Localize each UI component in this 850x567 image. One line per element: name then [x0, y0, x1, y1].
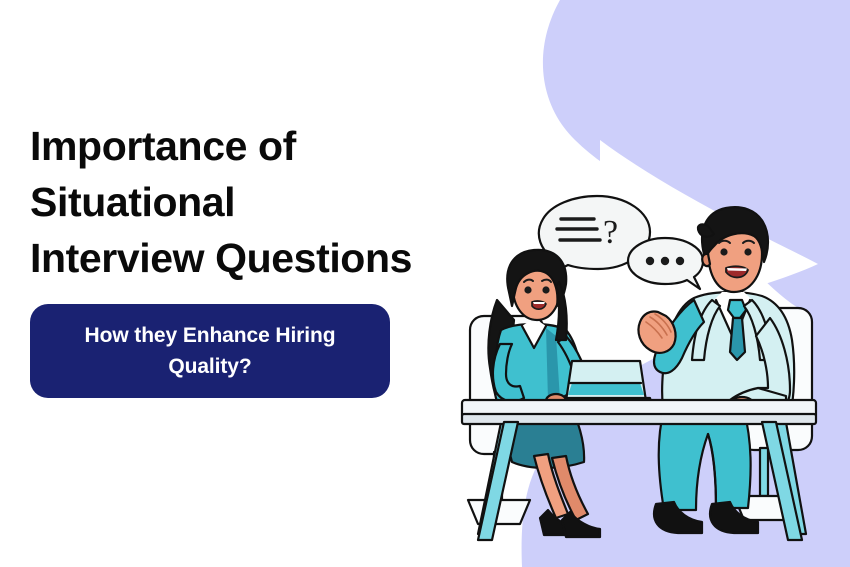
text-block: Importance of Situational Interview Ques… — [30, 118, 460, 398]
page-title: Importance of Situational Interview Ques… — [30, 118, 460, 286]
banner-root: ? — [0, 0, 850, 567]
svg-text:?: ? — [603, 214, 618, 251]
subtitle-badge[interactable]: How they Enhance Hiring Quality? — [30, 304, 390, 398]
speech-bubble-ellipsis-icon — [628, 238, 703, 289]
